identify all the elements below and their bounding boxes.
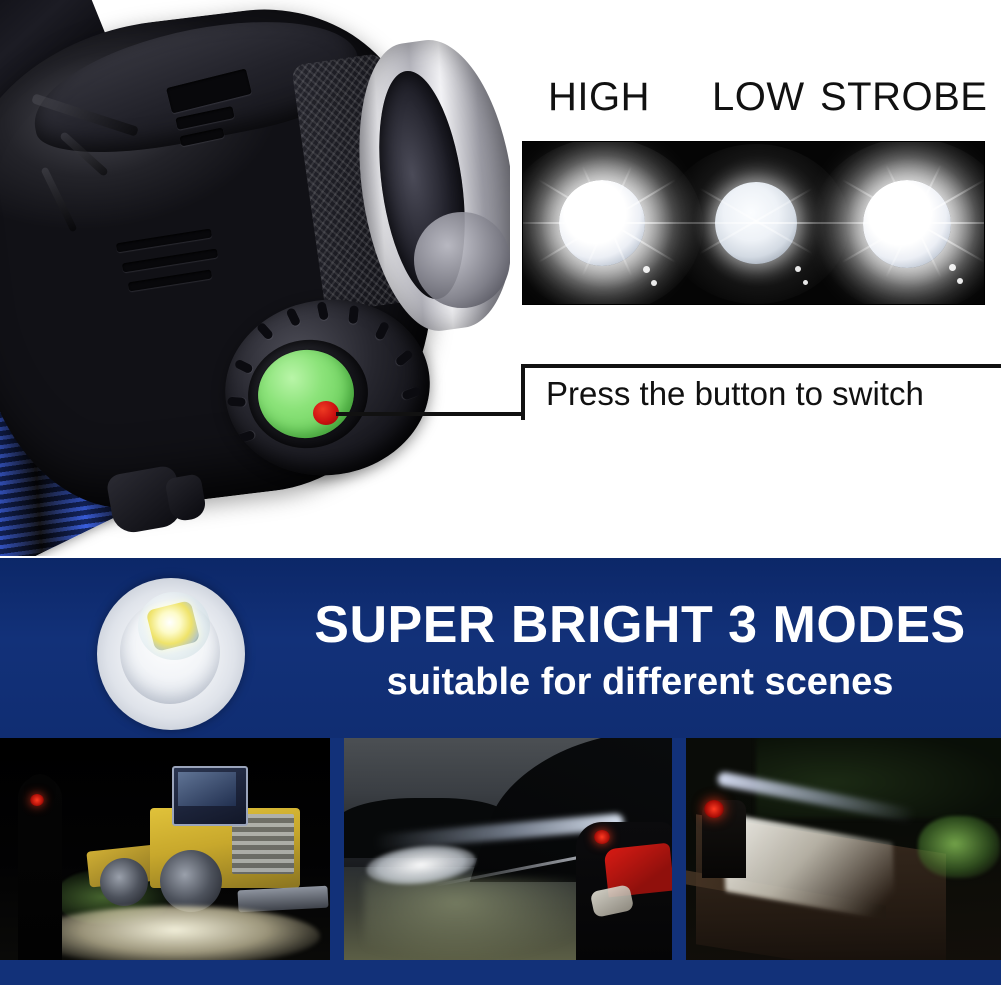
beam-ground-pool [30, 906, 320, 960]
red-indicator-glow [704, 800, 724, 818]
banner-title: SUPER BRIGHT 3 MODES [300, 596, 980, 654]
scene-photo-construction-site [0, 738, 330, 960]
led-cell-high [523, 142, 676, 304]
scene-photo-night-fishing [344, 738, 672, 960]
led-brightness-panel [522, 141, 985, 305]
red-indicator-glow [594, 830, 610, 844]
mode-label-row: HIGH LOW STROBE [522, 66, 984, 128]
mode-label-high: HIGH [548, 66, 650, 128]
headlamp-photo [0, 0, 510, 556]
beam-ground-glow [364, 878, 594, 958]
mode-label-low: LOW [712, 66, 805, 128]
led-cell-strobe [831, 142, 984, 304]
product-infographic: HIGH LOW STROBE [0, 0, 1001, 985]
scene-photo-night-road [686, 738, 1001, 960]
mode-label-strobe: STROBE [820, 66, 987, 128]
callout-label: Press the button to switch [546, 370, 996, 418]
led-cell-low [677, 142, 830, 304]
lit-foliage [918, 816, 1000, 878]
loader-wheel [160, 850, 222, 912]
loader-wheel [100, 858, 148, 906]
banner-subtitle: suitable for different scenes [300, 660, 980, 704]
lens-rim [414, 212, 510, 308]
loader-blade [237, 886, 328, 913]
red-indicator-glow [30, 794, 44, 806]
callout-leader-line [336, 412, 524, 416]
loader-cab-glass [178, 772, 236, 806]
top-section: HIGH LOW STROBE [0, 0, 1001, 558]
scene-photo-strip [0, 738, 1001, 985]
